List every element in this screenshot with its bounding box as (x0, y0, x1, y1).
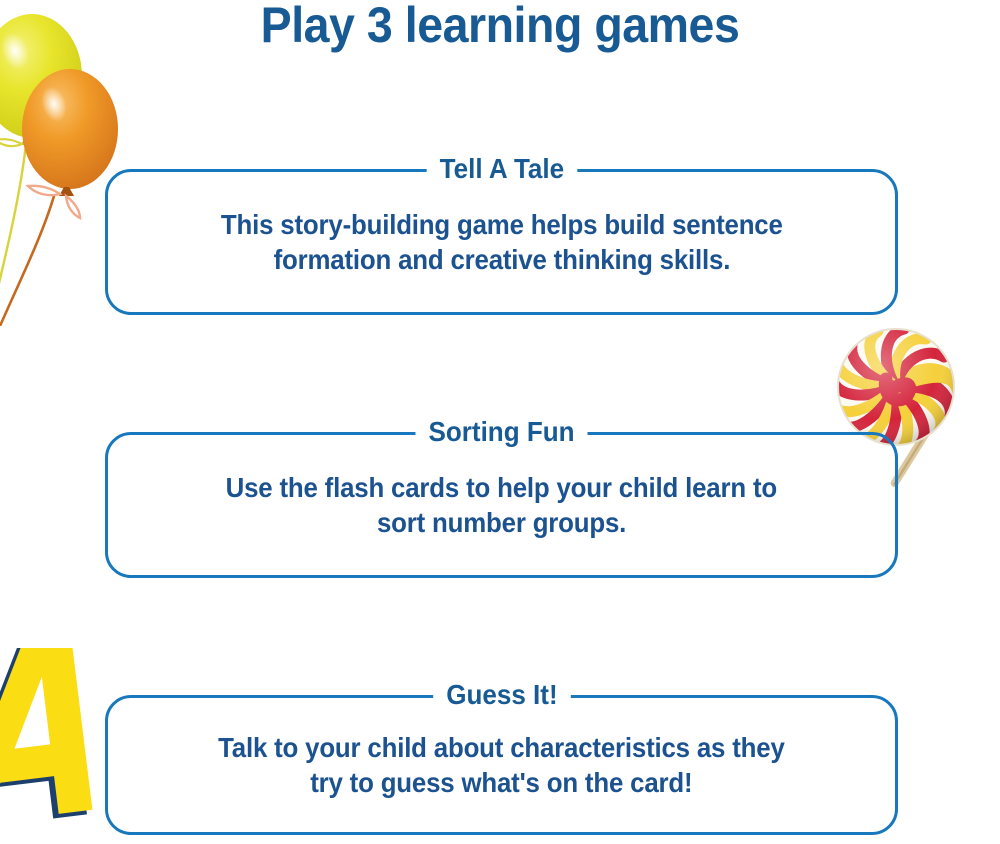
card-body: Use the flash cards to help your child l… (130, 470, 873, 540)
page-title: Play 3 learning games (35, 0, 965, 54)
card-body-line-2: try to guess what's on the card! (310, 765, 692, 800)
game-card-sorting-fun: Sorting Fun Use the flash cards to help … (105, 432, 898, 578)
orange-balloon (22, 69, 118, 218)
card-body-line-1: This story-building game helps build sen… (221, 207, 783, 242)
game-card-guess-it: Guess It! Talk to your child about chara… (105, 695, 898, 835)
card-body: Talk to your child about characteristics… (130, 730, 873, 800)
card-body-line-1: Use the flash cards to help your child l… (226, 470, 777, 505)
card-body: This story-building game helps build sen… (130, 207, 873, 277)
card-body-line-2: formation and creative thinking skills. (273, 242, 730, 277)
game-card-tell-a-tale: Tell A Tale This story-building game hel… (105, 169, 898, 315)
card-title: Sorting Fun (415, 415, 587, 449)
card-title: Tell A Tale (426, 152, 576, 186)
card-title-wrapper: Sorting Fun (108, 415, 895, 449)
card-body-line-1: Talk to your child about characteristics… (218, 730, 785, 765)
card-body-line-2: sort number groups. (377, 505, 626, 540)
card-title-wrapper: Guess It! (108, 678, 895, 712)
card-title: Guess It! (433, 678, 570, 712)
card-title-wrapper: Tell A Tale (108, 152, 895, 186)
